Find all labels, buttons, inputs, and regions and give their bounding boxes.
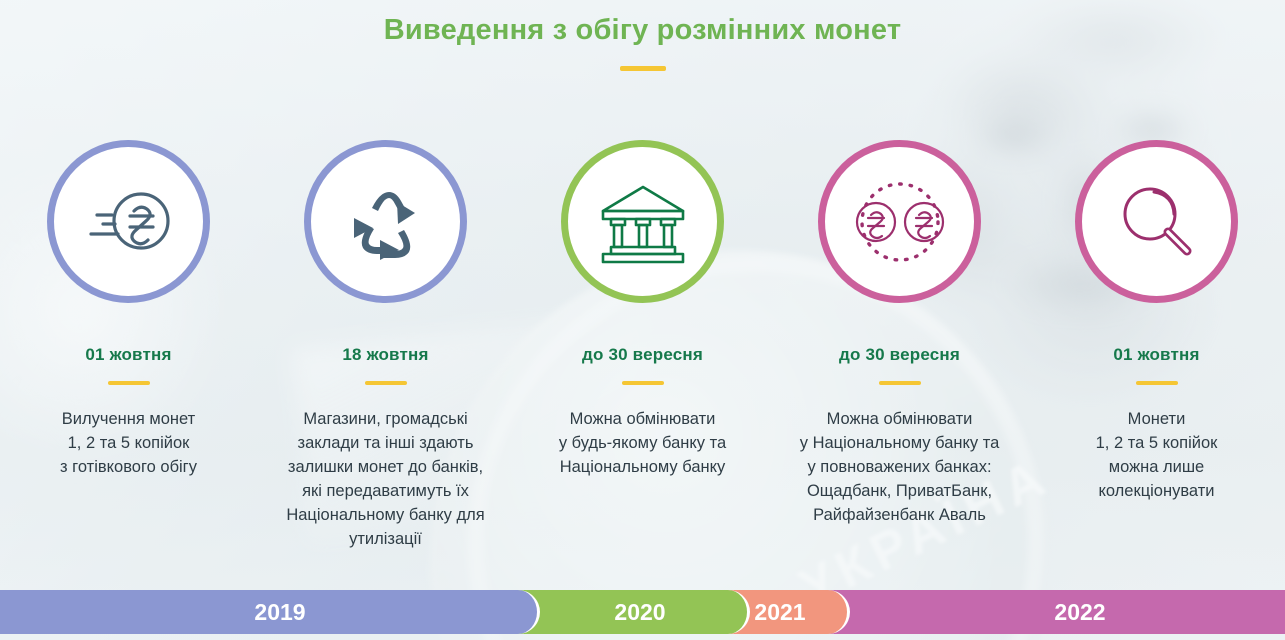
step-column-1: 01 жовтня Вилучення монет 1, 2 та 5 копі… [0, 140, 257, 551]
step-1-date: 01 жовтня [85, 345, 171, 365]
step-3-icon-circle [561, 140, 724, 303]
step-4-description: Можна обмінювати у Національному банку т… [800, 407, 1000, 527]
recycle-icon [342, 182, 430, 262]
step-4-date: до 30 вересня [839, 345, 960, 365]
step-5-date: 01 жовтня [1113, 345, 1199, 365]
steps-row: 01 жовтня Вилучення монет 1, 2 та 5 копі… [0, 140, 1285, 551]
step-1-icon-circle [47, 140, 210, 303]
step-column-4: до 30 вересня Можна обмінювати у Націона… [771, 140, 1028, 551]
step-3-description: Можна обмінювати у будь-якому банку та Н… [559, 407, 726, 479]
step-2-description: Магазини, громадські заклади та інші зда… [286, 407, 484, 551]
step-2-icon-circle [304, 140, 467, 303]
timeline-year-2020: 2020 [560, 590, 720, 634]
step-5-description: Монети 1, 2 та 5 копійок можна лише коле… [1096, 407, 1218, 503]
step-3-date-underline [622, 381, 664, 385]
step-3-date: до 30 вересня [582, 345, 703, 365]
step-2-date: 18 жовтня [342, 345, 428, 365]
timeline-year-2022: 2022 [1000, 590, 1160, 634]
timeline-year-2021: 2021 [700, 590, 860, 634]
magnifier-icon [1114, 179, 1200, 265]
step-5-icon-circle [1075, 140, 1238, 303]
step-1-date-underline [108, 381, 150, 385]
timeline-bar: 2019 2020 2021 2022 [0, 590, 1285, 634]
step-1-description: Вилучення монет 1, 2 та 5 копійок з готі… [60, 407, 197, 479]
page-title: Виведення з обігу розмінних монет [0, 14, 1285, 47]
step-4-icon-circle [818, 140, 981, 303]
infographic-poster: УКРАЇНА Виведення з обігу розмінних моне… [0, 0, 1285, 640]
step-2-date-underline [365, 381, 407, 385]
timeline-year-2019: 2019 [200, 590, 360, 634]
step-4-date-underline [879, 381, 921, 385]
title-underline [620, 66, 666, 71]
step-5-date-underline [1136, 381, 1178, 385]
coin-hryvnia-motion-icon [81, 183, 177, 261]
step-column-3: до 30 вересня Можна обмінювати у будь-як… [514, 140, 771, 551]
step-column-2: 18 жовтня Магазини, громадські заклади т… [257, 140, 514, 551]
two-coins-exchange-icon [848, 172, 952, 272]
step-column-5: 01 жовтня Монети 1, 2 та 5 копійок можна… [1028, 140, 1285, 551]
poster-content: Виведення з обігу розмінних монет [0, 0, 1285, 640]
bank-building-icon [595, 179, 691, 265]
